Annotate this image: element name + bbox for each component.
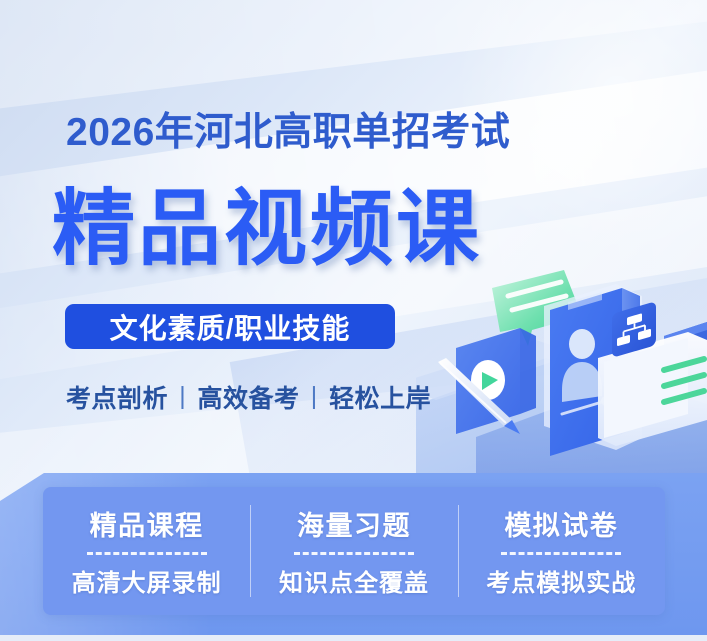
footer-strip — [0, 635, 707, 641]
feature-subtitle: 考点模拟实战 — [486, 563, 636, 598]
feature-item-courses: 精品课程 高清大屏录制 — [43, 487, 250, 615]
feature-panel: 精品课程 高清大屏录制 海量习题 知识点全覆盖 模拟试卷 考点模拟实战 — [43, 487, 665, 615]
feature-item-exercises: 海量习题 知识点全覆盖 — [250, 487, 457, 615]
feature-item-mock-papers: 模拟试卷 考点模拟实战 — [458, 487, 665, 615]
tagline-part-3: 轻松上岸 — [329, 385, 431, 413]
feature-subtitle: 知识点全覆盖 — [279, 563, 429, 598]
tagline-separator-1: 丨 — [168, 385, 198, 413]
feature-title: 海量习题 — [297, 504, 411, 543]
tagline-part-1: 考点剖析 — [66, 385, 168, 413]
banner-tagline: 考点剖析丨高效备考丨轻松上岸 — [66, 379, 431, 415]
subject-badge-label: 文化素质/职业技能 — [110, 307, 351, 347]
info-card — [598, 301, 707, 446]
feature-title: 模拟试卷 — [504, 504, 618, 543]
banner-headline: 精品视频课 — [52, 161, 482, 281]
subject-badge: 文化素质/职业技能 — [65, 304, 395, 349]
feature-divider-dashed — [294, 552, 414, 555]
feature-subtitle: 高清大屏录制 — [72, 563, 222, 598]
tagline-separator-2: 丨 — [300, 385, 330, 413]
feature-divider-dashed — [501, 552, 621, 555]
promo-banner: 2026年河北高职单招考试 精品视频课 文化素质/职业技能 考点剖析丨高效备考丨… — [0, 0, 707, 641]
isometric-illustration — [416, 262, 707, 477]
feature-divider-dashed — [87, 552, 207, 555]
banner-kicker: 2026年河北高职单招考试 — [66, 101, 510, 157]
tagline-part-2: 高效备考 — [198, 385, 300, 413]
feature-title: 精品课程 — [90, 504, 204, 543]
